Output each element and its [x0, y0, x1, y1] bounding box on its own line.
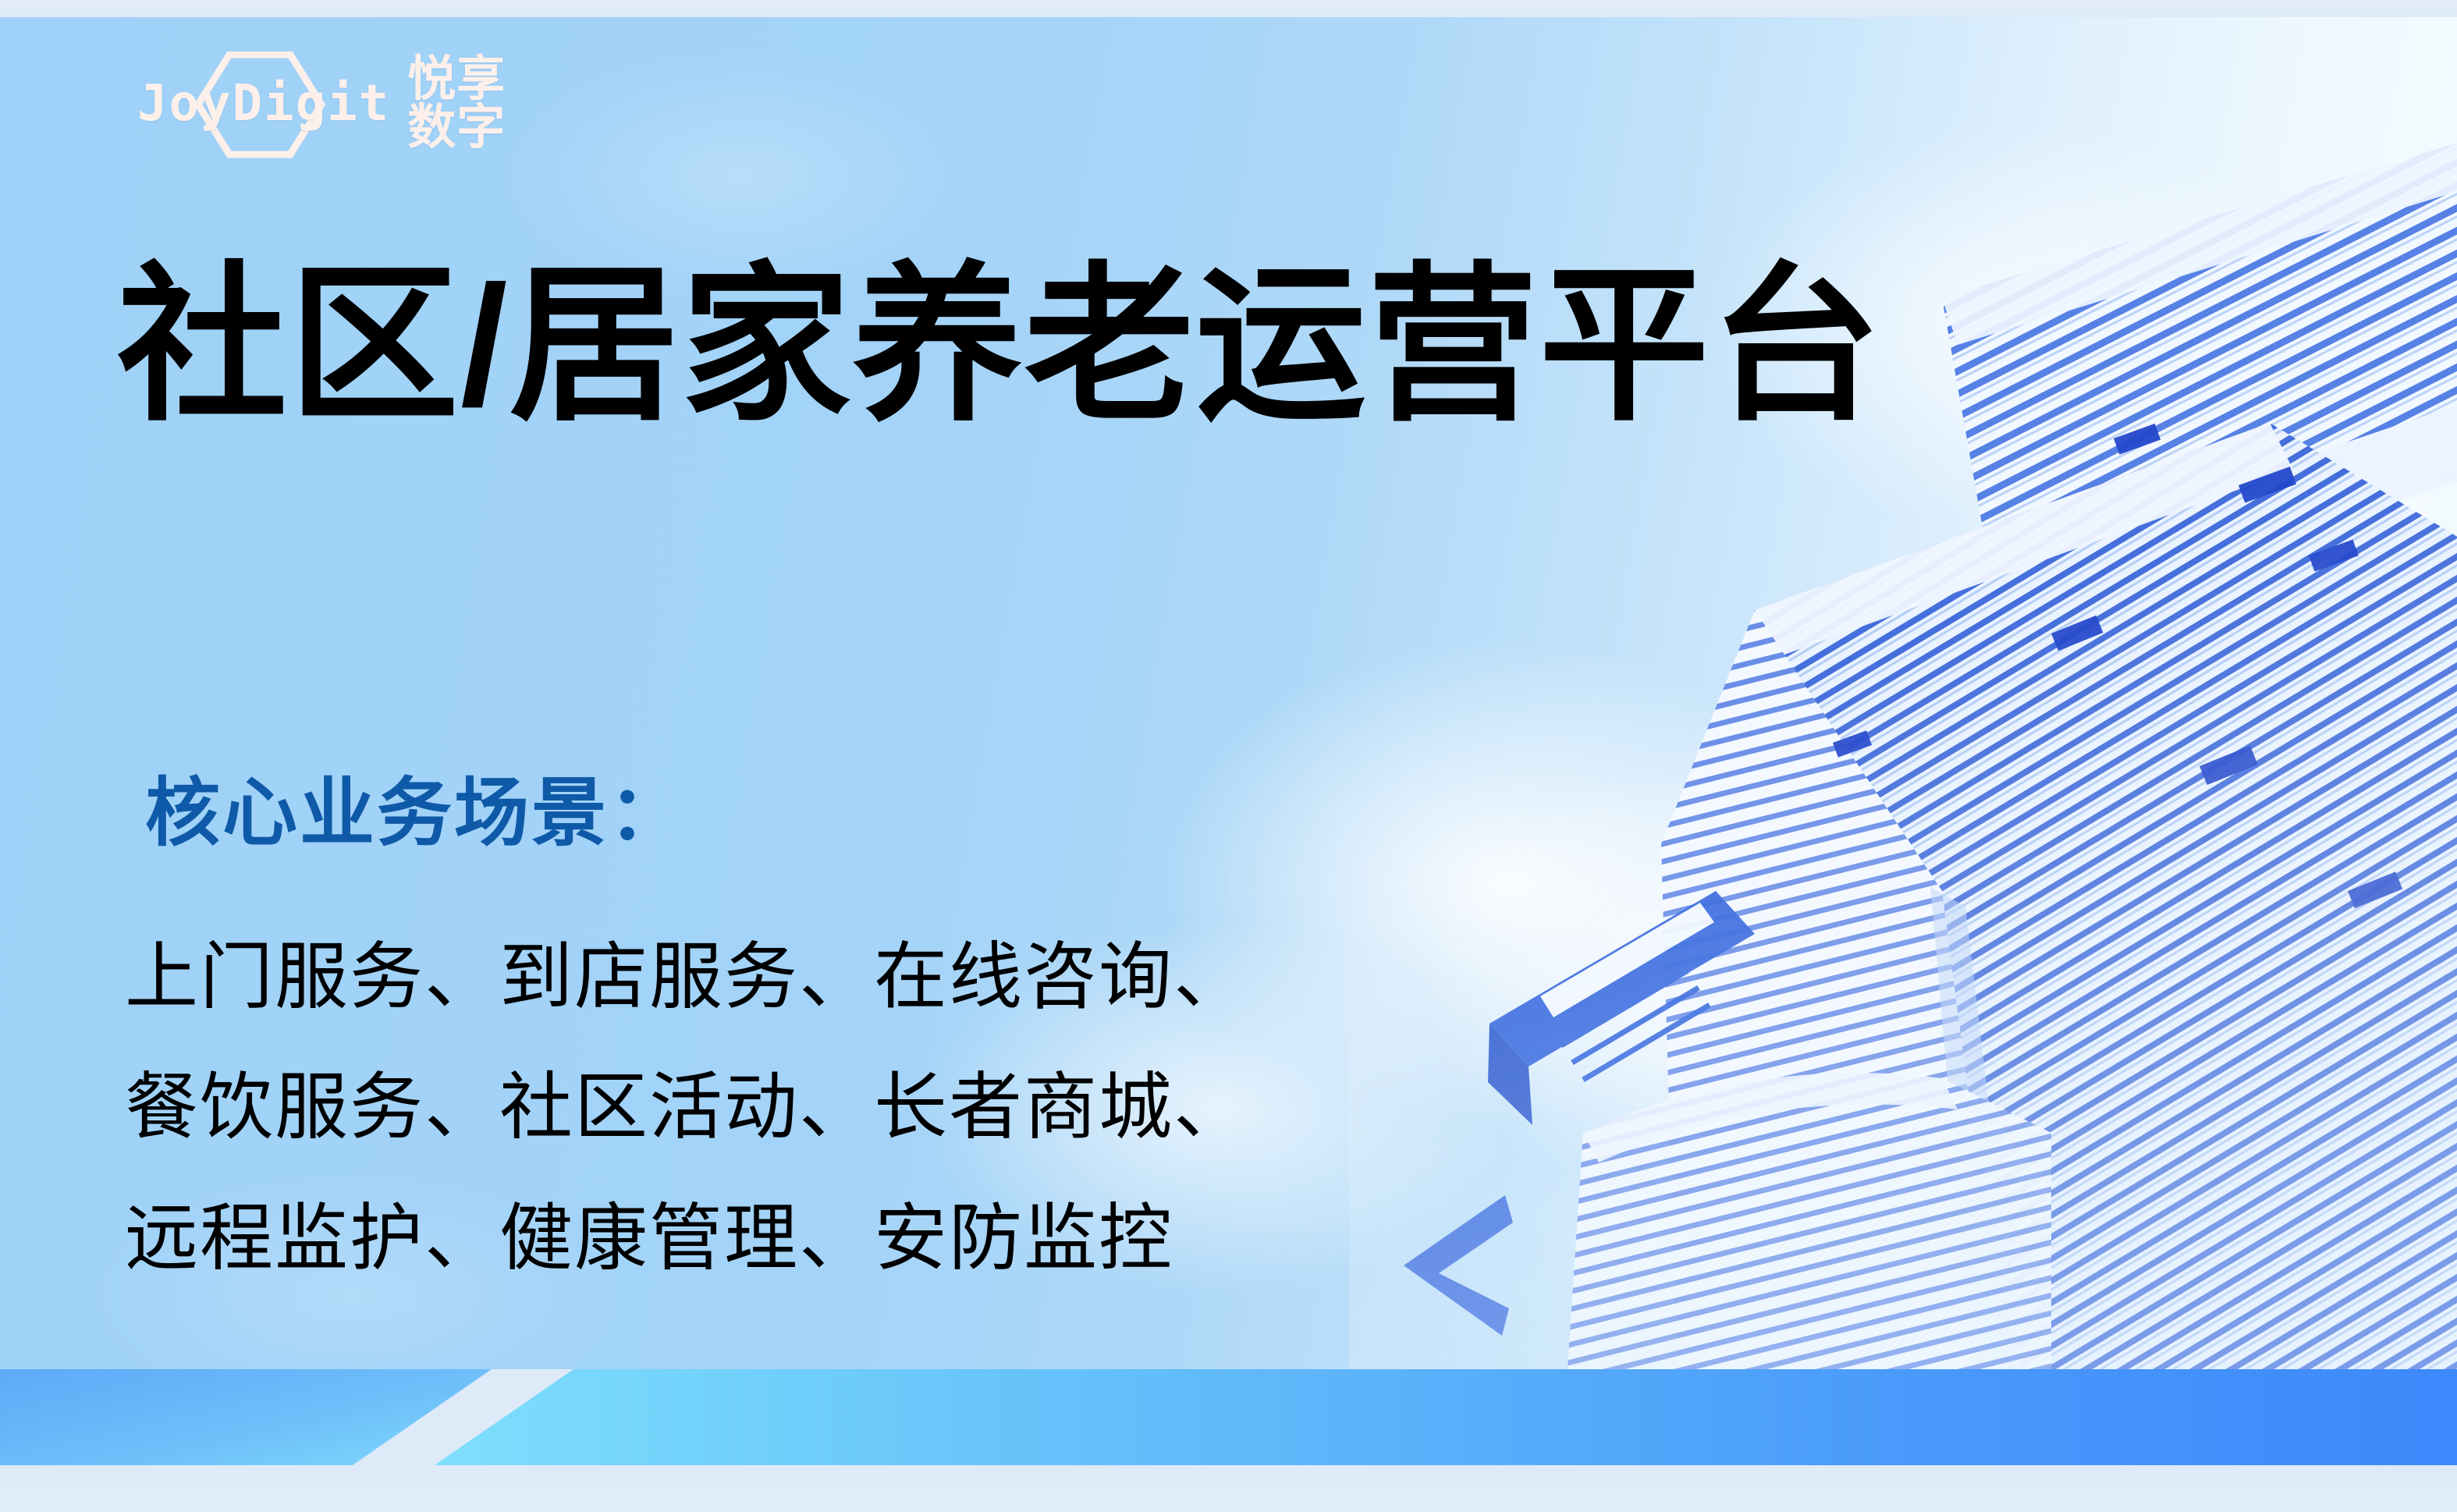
list-item: 远程监护、健康管理、安防监控 [125, 1173, 1248, 1303]
footer-strip [0, 1465, 2457, 1512]
top-margin-strip [0, 0, 2457, 17]
section-heading: 核心业务场景： [145, 772, 686, 855]
page-title: 社区/居家养老运营平台 [117, 257, 1883, 436]
slide-canvas: JoyDigit 悦享数字 社区/居家养老运营平台 核心业务场景： 上门服务、到… [0, 0, 2457, 1512]
list-item: 上门服务、到店服务、在线咨询、 [125, 911, 1248, 1042]
logo-text-en: JoyDigit [137, 79, 390, 129]
list-item: 餐饮服务、社区活动、长者商城、 [125, 1042, 1248, 1172]
scenario-list: 上门服务、到店服务、在线咨询、 餐饮服务、社区活动、长者商城、 远程监护、健康管… [125, 911, 1248, 1303]
brand-logo: JoyDigit 悦享数字 [137, 61, 512, 147]
logo-text-cn: 悦享数字 [407, 55, 512, 152]
